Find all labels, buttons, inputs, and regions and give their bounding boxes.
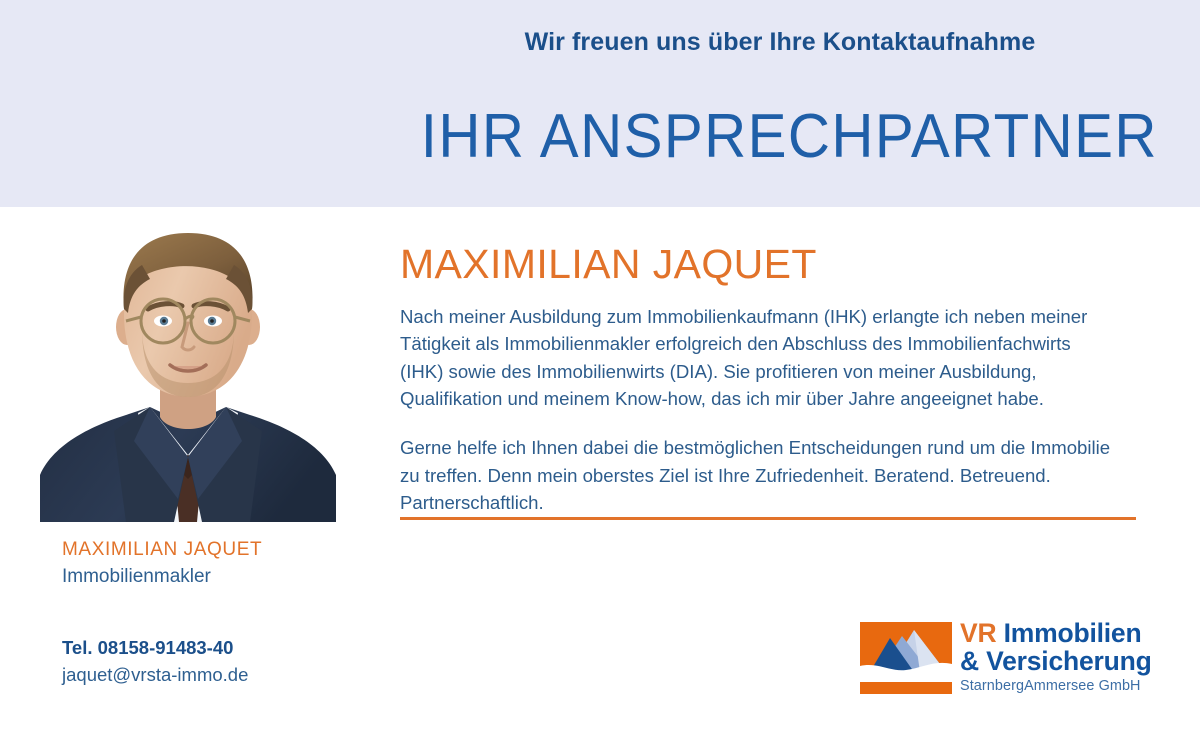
contact-block: MAXIMILIAN JAQUET Immobilienmakler Tel. …	[62, 537, 382, 689]
logo-immobilien-text: Immobilien	[996, 618, 1141, 648]
profile-bio: Nach meiner Ausbildung zum Immobilienkau…	[400, 303, 1115, 516]
portrait-illustration	[10, 217, 365, 522]
header-band: Wir freuen uns über Ihre Kontaktaufnahme…	[0, 0, 1200, 207]
contact-name: MAXIMILIAN JAQUET	[62, 537, 382, 563]
contact-email[interactable]: jaquet@vrsta-immo.de	[62, 662, 382, 689]
logo-line-2: & Versicherung	[960, 647, 1155, 675]
header-tagline: Wir freuen uns über Ihre Kontaktaufnahme	[400, 28, 1160, 57]
profile-name: MAXIMILIAN JAQUET	[400, 244, 817, 285]
logo-vr-text: VR	[960, 618, 996, 648]
logo-wordmark: VR Immobilien & Versicherung StarnbergAm…	[960, 619, 1155, 694]
bio-paragraph-2: Gerne helfe ich Ihnen dabei die bestmögl…	[400, 434, 1115, 516]
contact-phone[interactable]: Tel. 08158-91483-40	[62, 635, 382, 662]
logo-line-1: VR Immobilien	[960, 619, 1155, 647]
vr-mountain-logo-icon	[860, 622, 952, 694]
contact-role: Immobilienmakler	[62, 563, 382, 591]
orange-divider	[400, 517, 1136, 520]
left-column: MAXIMILIAN JAQUET Immobilienmakler Tel. …	[0, 207, 390, 743]
bio-paragraph-1: Nach meiner Ausbildung zum Immobilienkau…	[400, 303, 1115, 412]
company-logo[interactable]: VR Immobilien & Versicherung StarnbergAm…	[860, 619, 1150, 697]
mountain-mark-svg	[860, 622, 952, 694]
page-title: IHR ANSPRECHPARTNER	[421, 106, 1135, 168]
right-column: MAXIMILIAN JAQUET Nach meiner Ausbildung…	[398, 207, 1158, 743]
portrait-photo	[10, 217, 365, 522]
logo-subtitle: StarnbergAmmersee GmbH	[960, 678, 1155, 694]
contact-page: Wir freuen uns über Ihre Kontaktaufnahme…	[0, 0, 1200, 743]
